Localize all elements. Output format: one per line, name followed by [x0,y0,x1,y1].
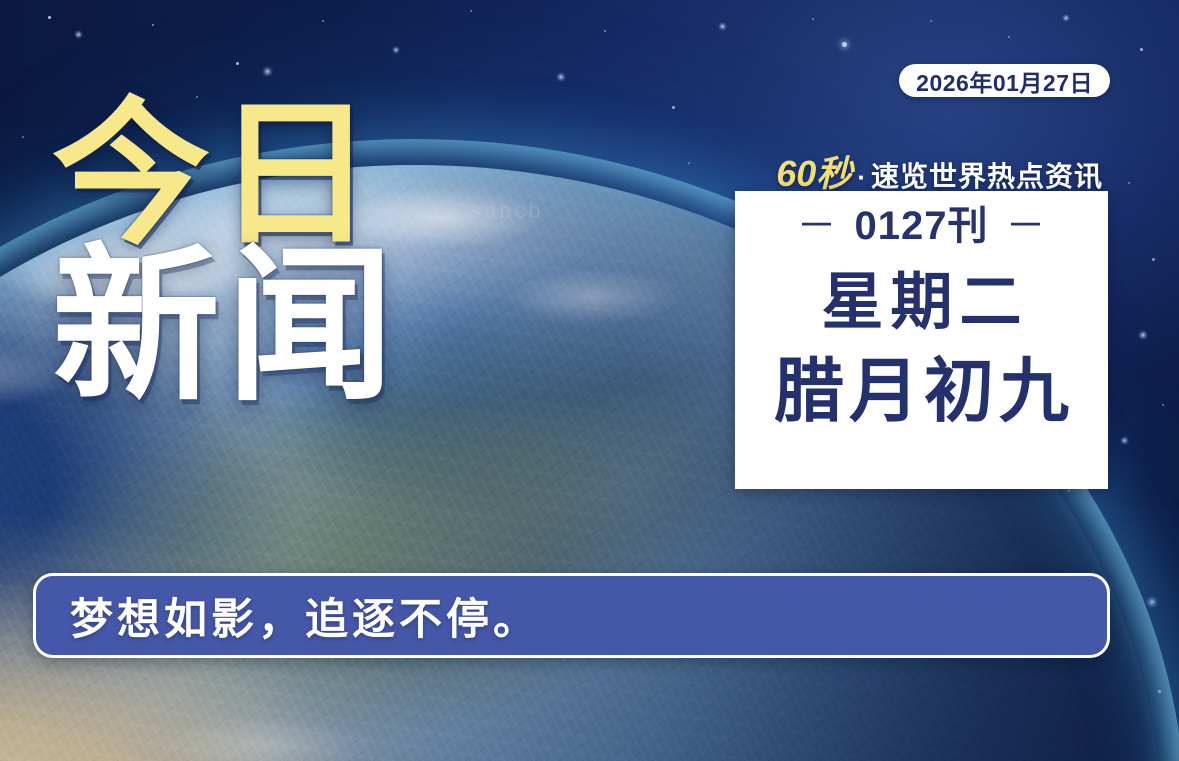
weekday-label: 星期二 [814,270,1028,335]
issue-dash-right: － [1005,204,1046,248]
motto-banner: 梦想如影，追逐不停。 [33,573,1110,658]
info-card: － 0127刊 － 星期二 腊月初九 [735,191,1108,489]
tagline: 60秒 · 速览世界热点资讯 [776,145,1103,197]
issue-dash-left: － [797,204,838,248]
issue-number: 0127刊 [855,204,989,248]
tagline-separator-dot: · [857,162,866,193]
page-title: 今日 新闻 [52,100,400,407]
date-badge: 2026年01月27日 [899,64,1110,97]
news-poster: sabcb 今日 新闻 2026年01月27日 60秒 · 速览世界热点资讯 －… [0,0,1179,761]
headline-line-xinwen: 新闻 [52,246,400,407]
issue-row: － 0127刊 － [797,204,1047,248]
lunar-date-label: 腊月初九 [769,355,1074,429]
tagline-text: 速览世界热点资讯 [871,155,1103,195]
motto-text: 梦想如影，追逐不停。 [70,585,540,647]
tagline-seconds: 60秒 [776,145,852,197]
headline-line-jinri: 今日 [52,100,400,252]
